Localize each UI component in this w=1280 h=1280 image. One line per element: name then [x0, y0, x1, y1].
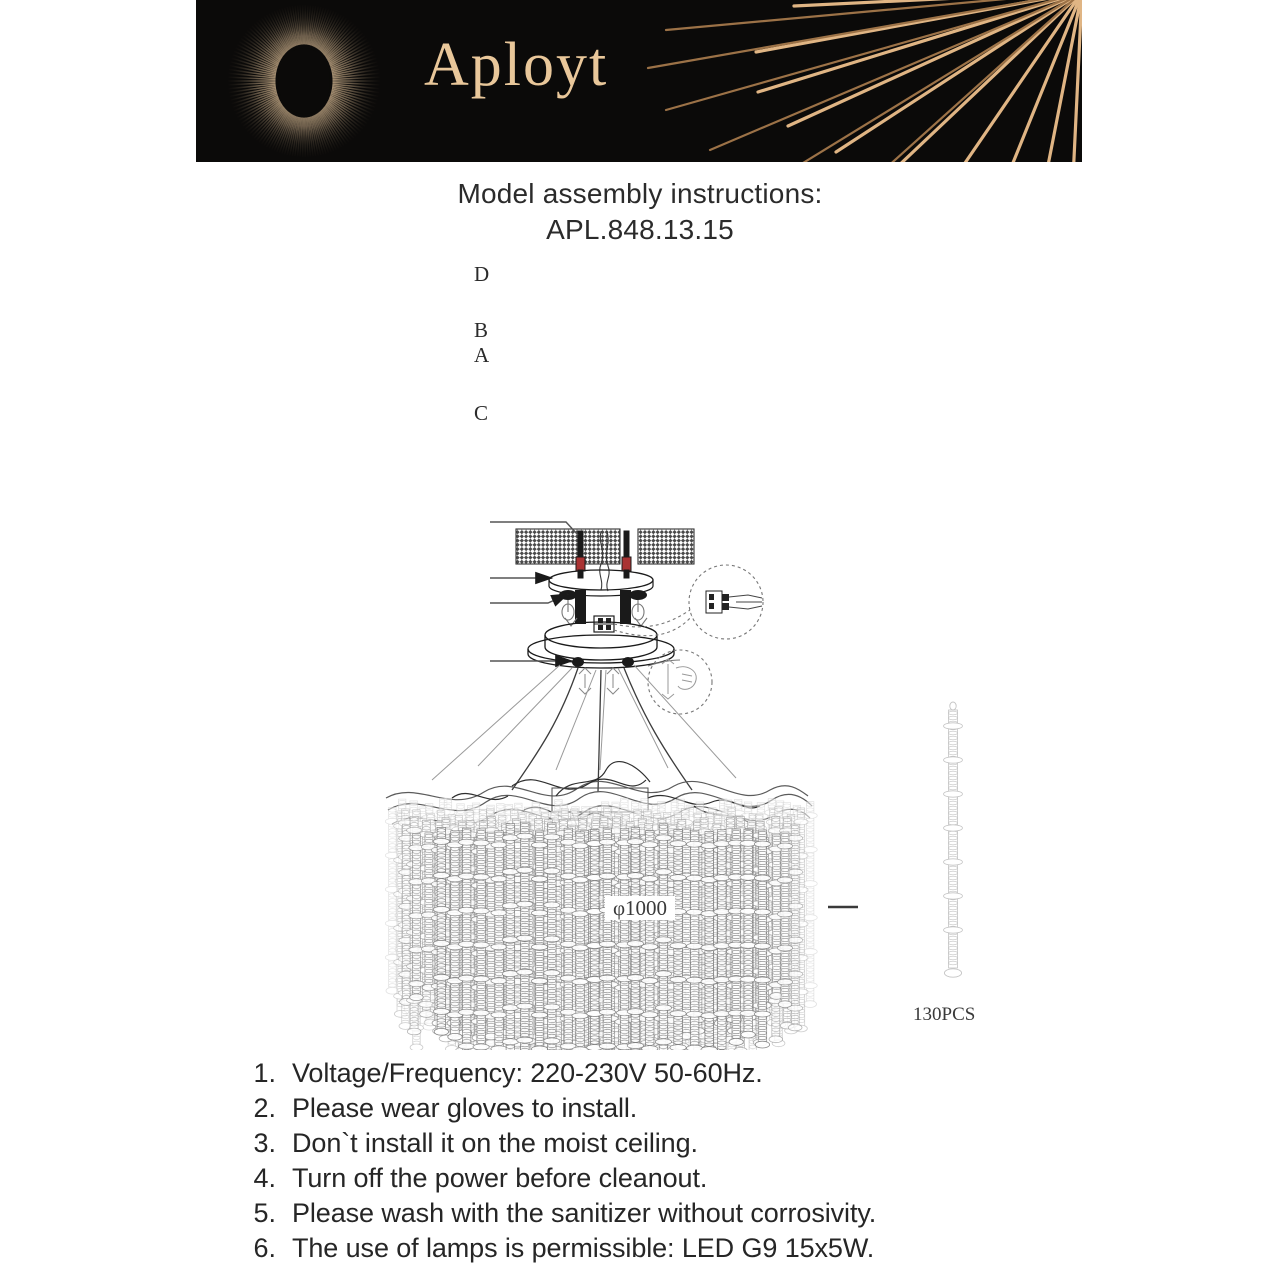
ceiling-slab [516, 529, 694, 564]
list-item: 2. Please wear gloves to install. [232, 1093, 1132, 1124]
callout-letter-d: D [474, 262, 489, 287]
callout-letter-b: B [474, 318, 488, 343]
list-item-number: 4. [232, 1163, 292, 1194]
part-count-label: 130PCS [913, 1004, 975, 1026]
list-item-number: 6. [232, 1233, 292, 1264]
list-item-number: 1. [232, 1058, 292, 1089]
list-item-number: 3. [232, 1128, 292, 1159]
list-item-number: 2. [232, 1093, 292, 1124]
list-item: 1. Voltage/Frequency: 220-230V 50-60Hz. [232, 1058, 1132, 1089]
list-item: 6. The use of lamps is permissible: LED … [232, 1233, 1132, 1264]
detail-callout-hook [648, 650, 712, 714]
dimension-label: φ1000 [0, 896, 1280, 921]
list-item-text: Don`t install it on the moist ceiling. [292, 1128, 698, 1159]
canopy-screws [572, 657, 634, 667]
title-line-2: APL.848.13.15 [0, 212, 1280, 248]
list-item-text: The use of lamps is permissible: LED G9 … [292, 1233, 874, 1264]
list-item-number: 5. [232, 1198, 292, 1229]
instructions-list: 1. Voltage/Frequency: 220-230V 50-60Hz. … [232, 1058, 1132, 1268]
brand-banner: Aployt [196, 0, 1082, 162]
assembly-diagram [0, 250, 1280, 1050]
list-item: 3. Don`t install it on the moist ceiling… [232, 1128, 1132, 1159]
sunburst-center [278, 48, 330, 114]
list-item-text: Please wash with the sanitizer without c… [292, 1198, 876, 1229]
list-item-text: Voltage/Frequency: 220-230V 50-60Hz. [292, 1058, 763, 1089]
brand-name: Aployt [424, 34, 608, 96]
list-item-text: Turn off the power before cleanout. [292, 1163, 707, 1194]
title-line-1: Model assembly instructions: [0, 176, 1280, 212]
canopy-hooks [579, 668, 619, 694]
callout-letter-c: C [474, 401, 488, 426]
page-title: Model assembly instructions: APL.848.13.… [0, 176, 1280, 248]
callout-letter-a: A [474, 343, 489, 368]
crystal-rod-curtain [385, 798, 817, 1050]
suspension-cables [432, 665, 736, 780]
list-item: 5. Please wash with the sanitizer withou… [232, 1198, 1132, 1229]
terminal-block [594, 616, 614, 632]
list-item: 4. Turn off the power before cleanout. [232, 1163, 1132, 1194]
sunburst-logo-icon [196, 0, 1082, 162]
list-item-text: Please wear gloves to install. [292, 1093, 637, 1124]
crystal-rod-sample [944, 702, 963, 977]
